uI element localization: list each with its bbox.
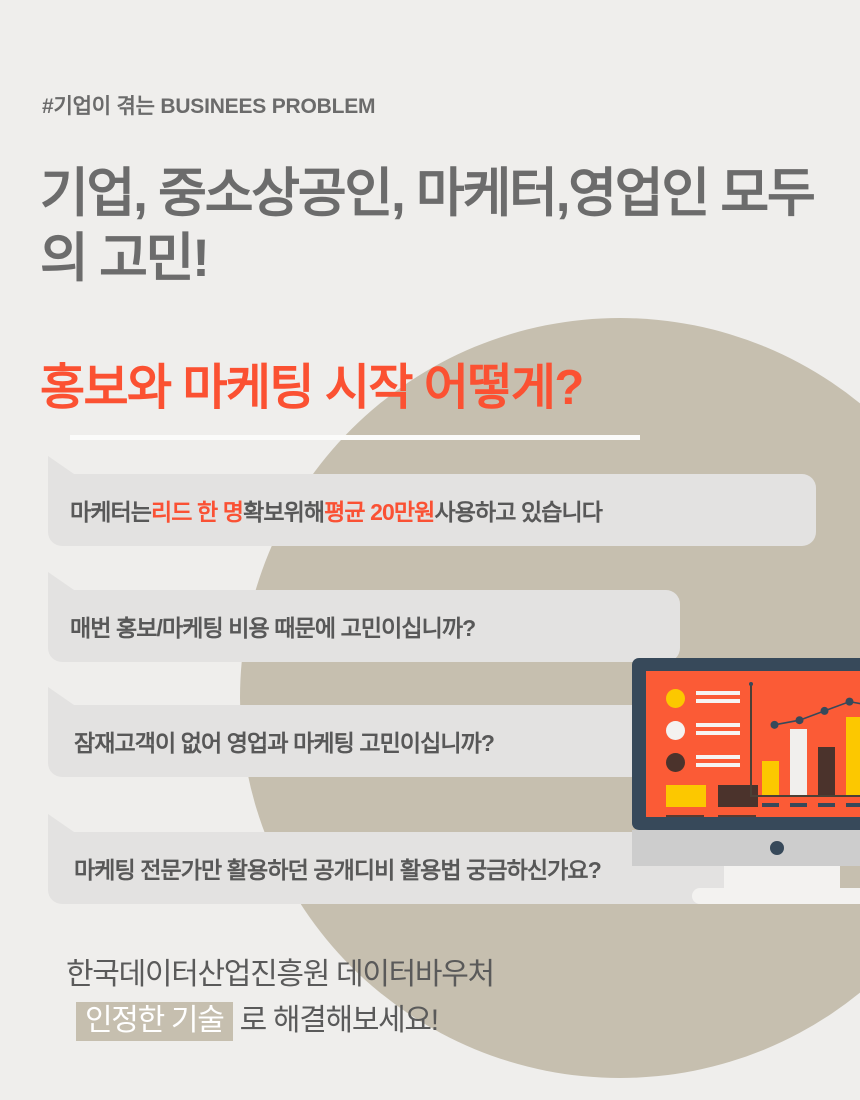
- page-title: 기업, 중소상공인, 마케터,영업인 모두의 고민!: [40, 162, 830, 291]
- legend-label-lines: [696, 723, 740, 739]
- swatch-yellow: [666, 785, 706, 807]
- legend-label-lines: [696, 691, 740, 707]
- monitor-illustration: [632, 658, 860, 866]
- landing-page: #기업이 겪는 BUSINEES PROBLEM 기업, 중소상공인, 마케터,…: [0, 0, 860, 1100]
- bubble-text: 잠재고객이 없어 영업과 마케팅 고민이십니까?: [74, 724, 494, 758]
- monitor-bezel: [632, 658, 860, 830]
- chart-y-axis: [750, 685, 752, 797]
- divider-rule: [70, 435, 640, 440]
- kicker-text: #기업이 겪는 BUSINEES PROBLEM: [42, 90, 375, 120]
- text-column: [718, 815, 756, 817]
- chart-x-tick: [818, 803, 835, 807]
- chart-x-tick: [846, 803, 860, 807]
- dashboard-legend: [666, 689, 758, 817]
- speech-bubble: 마케터는 리드 한 명 확보위해 평균 20만원 사용하고 있습니다: [48, 474, 816, 546]
- chart-trend-line: [762, 685, 860, 755]
- color-swatches: [666, 785, 758, 807]
- footer-line-2-tail: 로 해결해보세요!: [240, 1004, 438, 1037]
- chart-x-axis: [750, 795, 860, 797]
- bubble-text: 확보위해: [243, 493, 324, 527]
- legend-dot-white-icon: [666, 721, 685, 740]
- chart-x-tick: [790, 803, 807, 807]
- dashboard-chart: [750, 685, 860, 807]
- footer-line-1: 한국데이터산업진흥원 데이터바우처: [66, 958, 494, 991]
- legend-row: [666, 689, 758, 708]
- monitor-screen: [646, 671, 860, 817]
- legend-label-lines: [696, 755, 740, 771]
- bubble-text: 매번 홍보/마케팅 비용 때문에 고민이십니까?: [70, 609, 475, 643]
- legend-row: [666, 753, 758, 772]
- bubble-text: 마케팅 전문가만 활용하던 공개디비 활용법 궁금하신가요?: [74, 851, 601, 885]
- chart-x-tick: [762, 803, 779, 807]
- monitor-power-dot-icon: [770, 841, 784, 855]
- monitor-chin: [632, 830, 860, 866]
- chart-bar: [762, 761, 779, 795]
- bubble-highlight-text: 리드 한 명: [151, 493, 243, 527]
- speech-bubble: 잠재고객이 없어 영업과 마케팅 고민이십니까?: [48, 705, 684, 777]
- speech-bubble: 매번 홍보/마케팅 비용 때문에 고민이십니까?: [48, 590, 680, 662]
- legend-dot-dark-icon: [666, 753, 685, 772]
- bubble-text: 마케터는: [70, 493, 151, 527]
- bubble-text: 사용하고 있습니다: [434, 493, 602, 527]
- monitor-stand-base: [692, 888, 860, 904]
- footer-callout: 한국데이터산업진흥원 데이터바우처 인정한 기술 로 해결해보세요!: [66, 952, 494, 1043]
- highlight-headline: 홍보와 마케팅 시작 어떻게?: [40, 348, 583, 419]
- placeholder-text-block: [666, 815, 758, 817]
- legend-row: [666, 721, 758, 740]
- footer-highlight-mark: 인정한 기술: [76, 1002, 233, 1041]
- chart-x-ticks: [762, 803, 860, 807]
- text-column: [666, 815, 704, 817]
- bubble-highlight-text: 평균 20만원: [324, 493, 434, 527]
- legend-dot-yellow-icon: [666, 689, 685, 708]
